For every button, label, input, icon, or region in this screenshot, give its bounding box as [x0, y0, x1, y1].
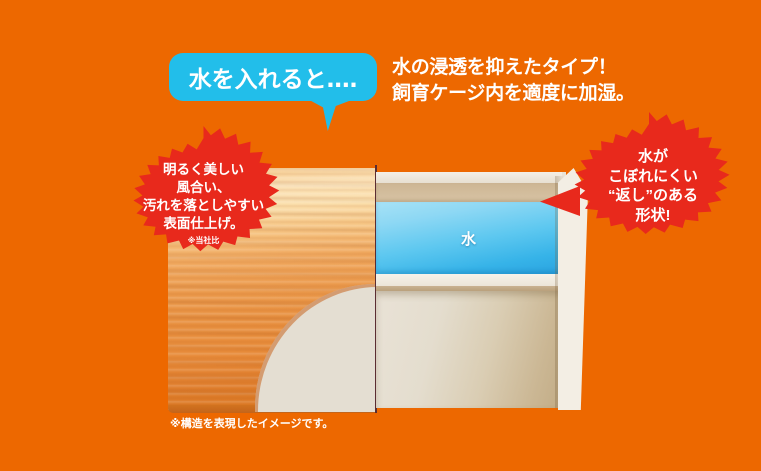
image-disclaimer-caption: ※構造を表現したイメージです。 [170, 415, 333, 431]
starburst-left-content: 明るく美しい 風合い、 汚れを落としやすい 表面仕上げ。 ※当社比 [143, 161, 264, 247]
starburst-right-line-4: 形状! [608, 206, 698, 226]
water-label: 水 [376, 228, 562, 249]
starburst-right-line-3: “返し”のある [608, 186, 698, 206]
starburst-left-line-1: 明るく美しい [143, 161, 264, 179]
section-tan-band [376, 183, 562, 202]
section-shelf-edge [376, 286, 562, 291]
starburst-left-line-2: 風合い、 [143, 179, 264, 197]
starburst-right-line-1: 水が [608, 147, 698, 167]
headline-block: 水の浸透を抑えたタイプ！ 飼育ケージ内を適度に加湿。 [392, 55, 635, 107]
section-shelf [376, 274, 562, 286]
headline-line-1: 水の浸透を抑えたタイプ！ [392, 55, 635, 81]
starburst-right-content: 水が こぼれにくい “返し”のある 形状! [608, 147, 698, 225]
section-top-rim [376, 172, 562, 183]
starburst-left-line-4: 表面仕上げ。 [143, 215, 264, 233]
advertisement-canvas: 水 水を入れると‥‥ 水の浸透を抑えたタイプ！ 飼育ケージ内を適度に加湿。 明る… [0, 0, 761, 471]
speech-balloon-tail [311, 99, 351, 131]
starburst-left-line-3: 汚れを落としやすい [143, 197, 264, 215]
headline-line-2: 飼育ケージ内を適度に加湿。 [392, 81, 635, 107]
speech-balloon-text: 水を入れると‥‥ [169, 53, 377, 101]
starburst-right-line-2: こぼれにくい [608, 167, 698, 187]
water-reservoir: 水 [376, 202, 562, 274]
section-lower-cavity [376, 291, 562, 408]
speech-balloon: 水を入れると‥‥ [169, 53, 377, 101]
